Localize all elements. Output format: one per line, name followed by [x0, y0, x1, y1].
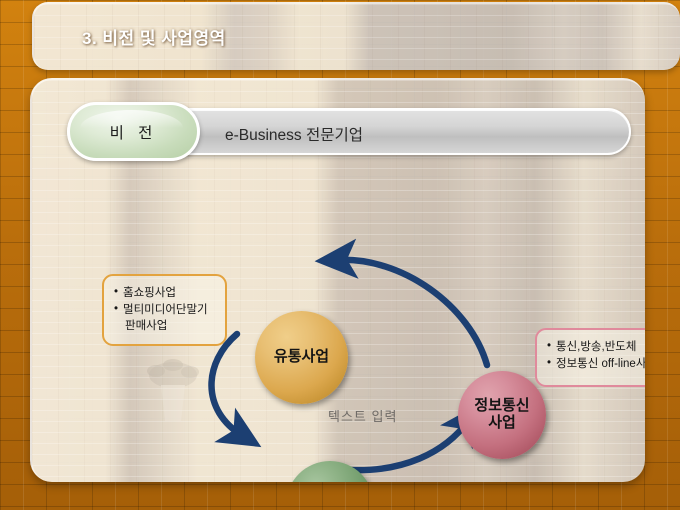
callout-distribution-item-2: 멀티미디어단말기 [114, 302, 215, 319]
callout-distribution-item-2-cont: 판매사업 [114, 318, 215, 335]
node-telecom-label-line1: 정보통신 [474, 397, 529, 414]
callout-telecom[interactable]: 통신,방송,반도체 정보통신 off-line사업 [535, 328, 645, 387]
callout-telecom-item-2: 정보통신 off-line사업 [547, 356, 645, 373]
vision-label-pill: 비 전 [67, 102, 200, 161]
callout-distribution-item-1: 홈쇼핑사업 [114, 285, 215, 302]
callout-telecom-item-1: 통신,방송,반도체 [547, 339, 645, 356]
callout-distribution[interactable]: 홈쇼핑사업 멀티미디어단말기 판매사업 [102, 274, 227, 346]
node-distribution-business[interactable]: 유통사업 [255, 311, 348, 404]
vision-label-text: 비 전 [110, 121, 158, 143]
content-panel: e-Business 전문기업 비 전 유통사업 인터넷 사업 정보통신 사업 [30, 78, 645, 482]
center-placeholder-text[interactable]: 텍스트 입력 [328, 406, 397, 425]
node-telecom-label: 정보통신 사업 [474, 398, 529, 432]
page-title: 3. 비전 및 사업영역 [82, 24, 226, 49]
header-panel: 3. 비전 및 사업영역 [32, 2, 680, 70]
node-telecom-label-line2: 사업 [488, 414, 516, 431]
node-distribution-label: 유통사업 [274, 349, 329, 366]
vision-statement-text: e-Business 전문기업 [225, 110, 363, 157]
node-telecom-business[interactable]: 정보통신 사업 [458, 371, 546, 459]
